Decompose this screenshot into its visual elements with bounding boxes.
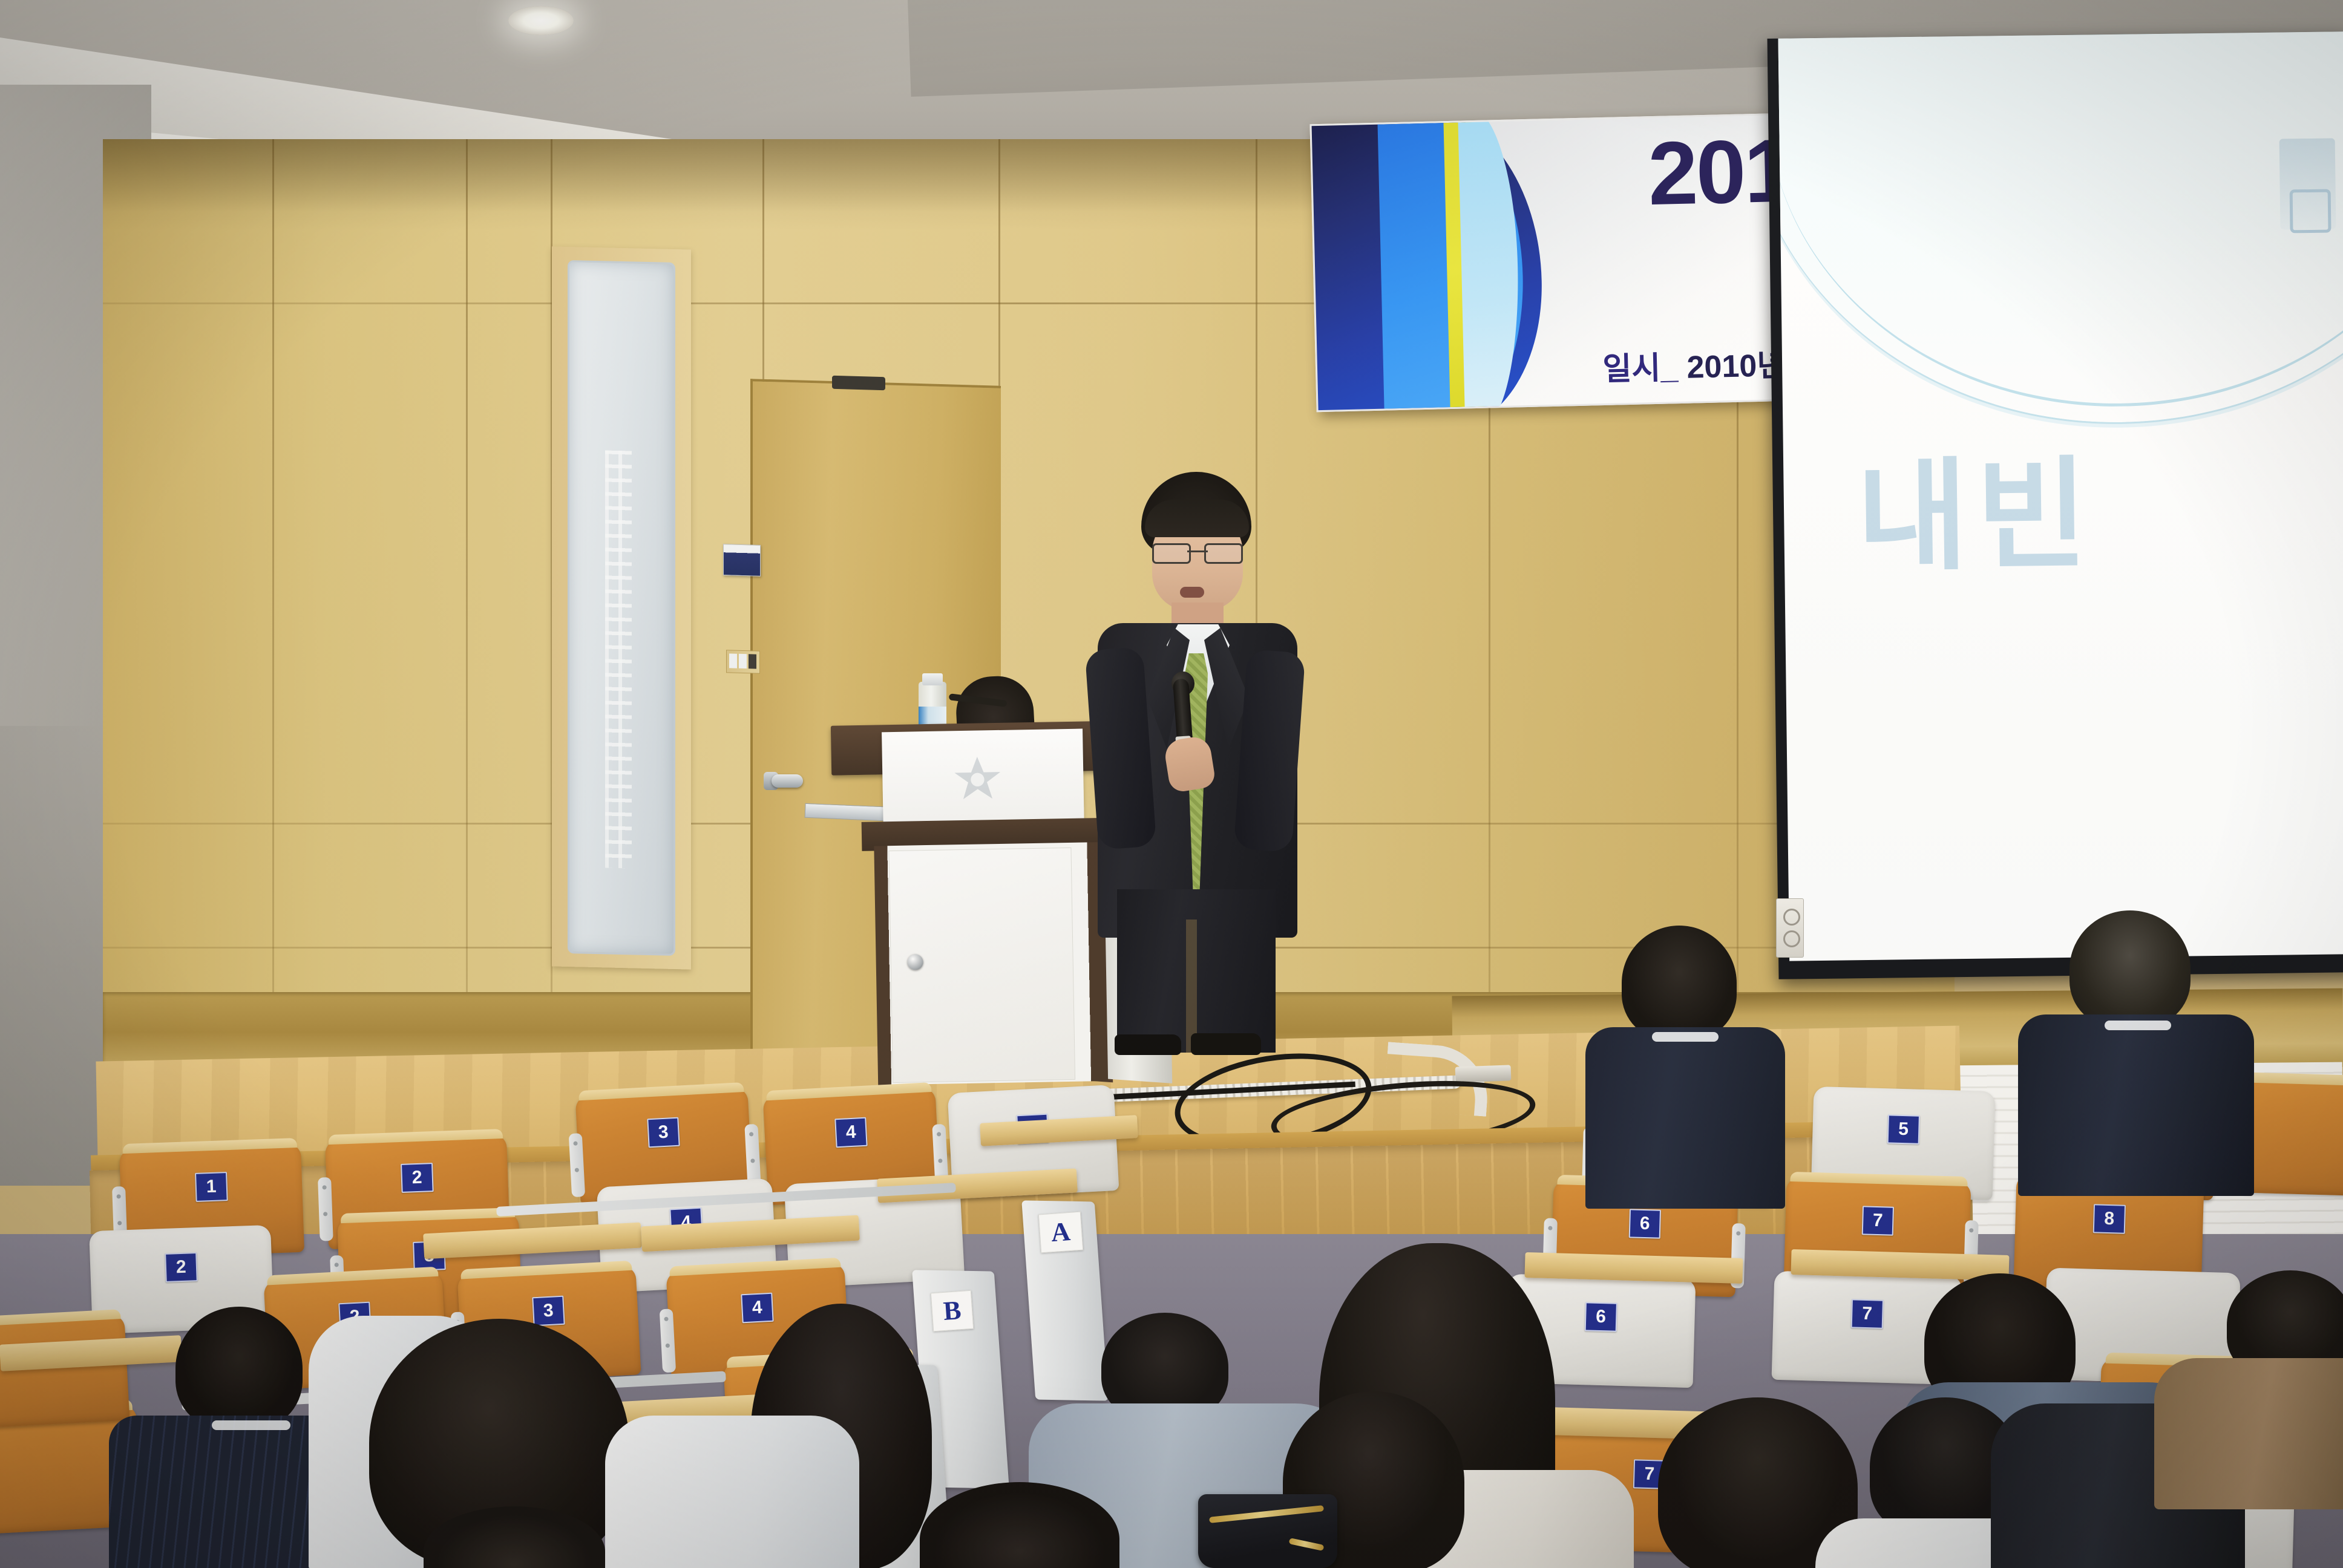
handbag-gold-trim [1209,1505,1324,1523]
door-closer-icon [832,376,885,390]
door-lever-handle-icon[interactable] [772,774,803,788]
seat-number-badge: 5 [1887,1114,1920,1144]
audience-collar [2105,1021,2171,1030]
seat-back [0,1315,129,1429]
audience-head [2069,910,2191,1028]
presenter-shoe-left [1115,1034,1181,1055]
seat-number-badge: 8 [2093,1204,2126,1233]
presenter-leg-gap [1186,920,1197,1053]
door-sign-plate [723,544,761,577]
presenter-mouth [1180,587,1204,598]
audience-head [175,1307,303,1431]
seat-back [2240,1077,2343,1197]
seat-number-badge: 2 [401,1163,433,1193]
seat-number-badge: 6 [1585,1302,1617,1331]
seat-number-badge: 7 [1851,1299,1884,1328]
projection-screen-surface: 내빈 [1778,31,2343,961]
audience-shoulders [605,1416,859,1568]
seat-number-badge: 2 [165,1252,197,1282]
seat-number-badge: 4 [741,1293,774,1324]
row-letter-b: B [931,1290,974,1332]
audience-shoulders [2154,1358,2343,1509]
seat-number-badge: 1 [195,1172,228,1202]
handbag [1198,1494,1337,1568]
audience-collar [212,1420,290,1430]
audience-head [1622,926,1737,1040]
slide-title: 내빈 [1855,416,2097,594]
audience-shoulders [2018,1014,2254,1196]
seat-number-badge: 6 [1628,1209,1661,1239]
seat-number-badge: 4 [834,1117,868,1148]
handbag-gold-clasp-icon [1289,1538,1325,1551]
banner-date-label: 일시_ [1602,350,1679,387]
projection-screen-frame: 내빈 [1768,31,2343,979]
seat[interactable] [2240,1077,2343,1197]
presenter-shoe-right [1191,1033,1261,1055]
presenter-fringe [1145,500,1249,537]
seat[interactable] [0,1315,129,1429]
banner-date-line: 일시_ 2010년 [1602,339,1786,389]
event-banner: 201 일시_ 2010년 [1310,113,1792,412]
water-bottle-cap [922,673,943,685]
seat-number-badge: 3 [532,1296,565,1327]
floor-outlet-plate [1455,1065,1512,1082]
row-letter-a: A [1038,1212,1083,1253]
speaker-grille-icon [605,451,632,869]
light-switch[interactable] [726,650,760,674]
seat-side-panel [318,1177,333,1241]
slide-logo-icon [2279,138,2336,229]
seat-number-badge: 3 [647,1117,680,1148]
eyeglasses-icon [1152,543,1243,561]
auditorium-photo: 201 일시_ 2010년 내빈 [0,0,2343,1568]
six-pointed-star-emblem-icon [951,754,1004,807]
seat-number-badge: 7 [1861,1206,1894,1236]
audience-collar [1652,1032,1719,1042]
ceiling-downlight-icon [508,6,574,35]
presenter [1089,472,1307,1053]
wall-power-outlet-icon [1776,898,1804,958]
audience-shoulders [1585,1027,1785,1209]
slide-arc-outline [1778,31,2343,411]
